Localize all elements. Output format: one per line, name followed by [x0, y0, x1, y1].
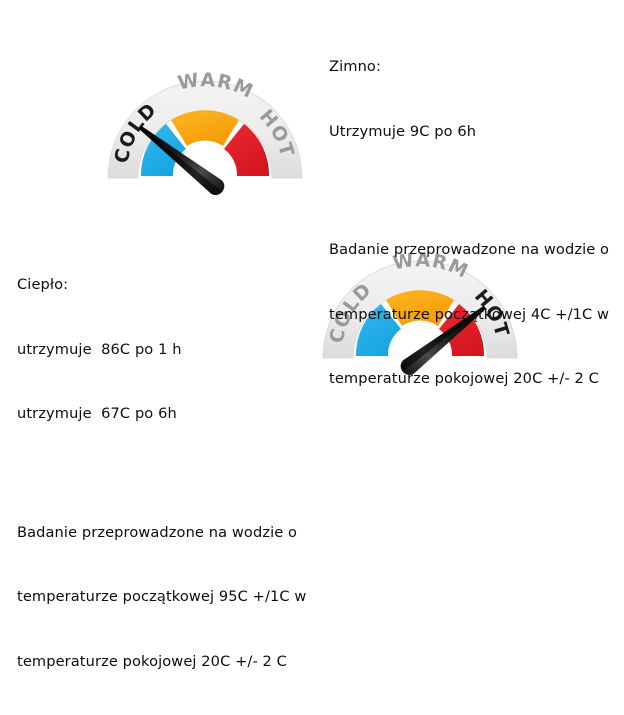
warm-text-spacer	[17, 468, 306, 479]
cold-result-line-1: Utrzymuje 9C po 6h	[329, 121, 609, 143]
warm-result-heading: Ciepło:	[17, 274, 306, 296]
screenshot-canvas: COLD WARM HOT	[0, 0, 624, 410]
cold-paragraph-line-1: Badanie przeprowadzone na wodzie o	[329, 239, 609, 261]
warm-result-text: Ciepło: utrzymuje 86C po 1 h utrzymuje 6…	[17, 231, 306, 715]
warm-paragraph-line-2: temperaturze początkowej 95C +/1C w	[17, 586, 306, 608]
cold-paragraph-line-3: temperaturze pokojowej 20C +/- 2 C	[329, 368, 609, 390]
cold-result-text: Zimno: Utrzymuje 9C po 6h Badanie przepr…	[329, 13, 609, 433]
cold-paragraph-line-2: temperaturze początkowej 4C +/1C w	[329, 304, 609, 326]
warm-result-line-2: utrzymuje 67C po 6h	[17, 403, 306, 425]
warm-result-line-1: utrzymuje 86C po 1 h	[17, 339, 306, 361]
segment-warm	[171, 110, 239, 146]
warm-paragraph-line-3: temperaturze pokojowej 20C +/- 2 C	[17, 651, 306, 673]
cold-gauge: COLD WARM HOT	[100, 50, 310, 195]
cold-result-heading: Zimno:	[329, 56, 609, 78]
cold-text-spacer	[329, 185, 609, 196]
warm-paragraph-line-1: Badanie przeprowadzone na wodzie o	[17, 522, 306, 544]
